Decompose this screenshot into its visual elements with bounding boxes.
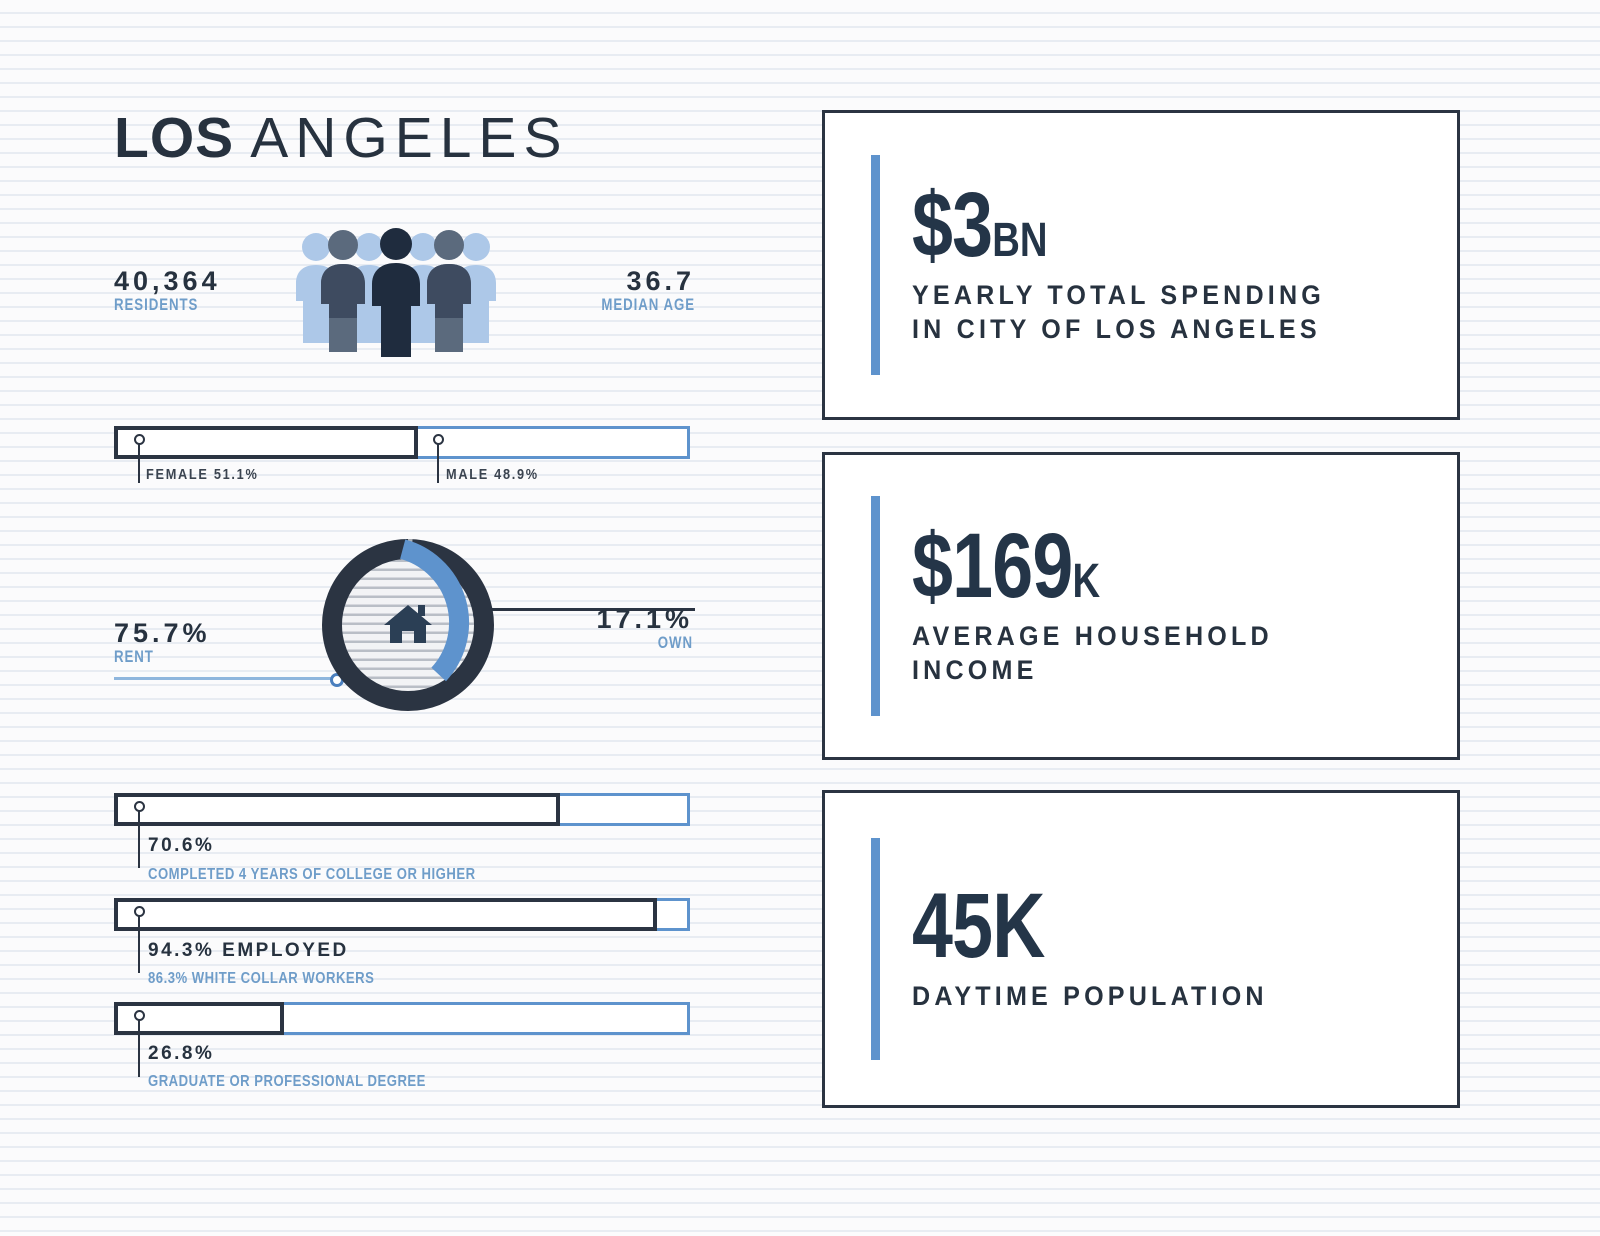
gender-split-bar	[114, 426, 690, 459]
kpi-number-unit-population: K	[992, 875, 1044, 977]
page-title-light: ANGELES	[250, 106, 568, 170]
residents-label: RESIDENTS	[114, 295, 198, 315]
education-bar-graduate	[114, 1002, 690, 1035]
employment-pin	[138, 915, 140, 973]
housing-tenure-donut	[318, 535, 498, 715]
kpi-accent-bar-spending	[871, 155, 880, 375]
own-stat: 17.1% OWN	[545, 605, 693, 653]
graduate-caption: GRADUATE OR PROFESSIONAL DEGREE	[148, 1073, 426, 1091]
kpi-caption-income-line2: INCOME	[912, 653, 1419, 688]
kpi-number-unit-spending: BN	[992, 214, 1047, 267]
rent-label: RENT	[114, 647, 189, 667]
kpi-accent-bar-population	[871, 838, 880, 1060]
residents-stat: 40,364 RESIDENTS	[114, 267, 222, 316]
graduate-pin	[138, 1019, 140, 1077]
rent-leader-line	[114, 677, 346, 680]
employment-bar-remainder	[657, 898, 690, 931]
employment-sub-caption: 86.3% WHITE COLLAR WORKERS	[148, 970, 374, 988]
college-bar-fill	[114, 793, 560, 826]
rent-value: 75.7%	[114, 619, 211, 647]
kpi-card-daytime-population: 45K DAYTIME POPULATION	[822, 790, 1460, 1108]
page-title: LOSANGELES	[114, 110, 568, 167]
kpi-number-main-spending: $3	[912, 174, 992, 276]
gender-female-pin	[138, 443, 140, 483]
kpi-body-income: $169K AVERAGE HOUSEHOLD INCOME	[912, 524, 1457, 688]
rent-stat: 75.7% RENT	[114, 619, 211, 667]
employment-bar-fill	[114, 898, 657, 931]
gender-male-pin	[437, 443, 439, 483]
infographic-page: LOSANGELES 40,364 RESIDENTS	[0, 0, 1600, 1236]
college-pin	[138, 810, 140, 868]
kpi-number-main-population: 45	[912, 875, 992, 977]
graduate-value: 26.8%	[148, 1043, 214, 1065]
kpi-number-unit-income: K	[1073, 555, 1101, 608]
kpi-caption-spending-line1: YEARLY TOTAL SPENDING	[912, 278, 1419, 313]
kpi-number-spending: $3BN	[912, 183, 1348, 268]
kpi-number-main-income: $169	[912, 515, 1073, 617]
own-label: OWN	[578, 633, 693, 653]
gender-male-label: MALE 48.9%	[446, 466, 539, 483]
employment-value: 94.3% EMPLOYED	[148, 940, 349, 962]
kpi-caption-income-line1: AVERAGE HOUSEHOLD	[912, 619, 1419, 654]
gender-bar-female-segment	[114, 426, 418, 459]
kpi-number-population: 45K	[912, 884, 1348, 969]
college-caption: COMPLETED 4 YEARS OF COLLEGE OR HIGHER	[148, 866, 476, 884]
median-age-value: 36.7	[575, 267, 695, 295]
gender-female-label: FEMALE 51.1%	[146, 466, 259, 483]
population-stats-row: 40,364 RESIDENTS	[0, 225, 790, 375]
education-bar-college	[114, 793, 690, 826]
own-value: 17.1%	[545, 605, 693, 633]
kpi-number-income: $169K	[912, 524, 1348, 609]
left-panel: LOSANGELES 40,364 RESIDENTS	[0, 0, 790, 1236]
kpi-caption-population-line1: DAYTIME POPULATION	[912, 979, 1419, 1014]
college-value: 70.6%	[148, 835, 214, 857]
kpi-card-yearly-spending: $3BN YEARLY TOTAL SPENDING IN CITY OF LO…	[822, 110, 1460, 420]
kpi-cards-panel: $3BN YEARLY TOTAL SPENDING IN CITY OF LO…	[822, 0, 1522, 1236]
housing-tenure-section: 75.7% RENT 17.1% OWN	[0, 535, 790, 745]
education-bar-employment	[114, 898, 690, 931]
gender-bar-male-segment	[418, 426, 690, 459]
residents-value: 40,364	[114, 267, 222, 295]
kpi-accent-bar-income	[871, 496, 880, 716]
people-group-icon	[296, 225, 496, 365]
college-bar-remainder	[560, 793, 690, 826]
graduate-bar-remainder	[284, 1002, 690, 1035]
kpi-body-spending: $3BN YEARLY TOTAL SPENDING IN CITY OF LO…	[912, 183, 1457, 347]
median-age-label: MEDIAN AGE	[601, 295, 695, 315]
kpi-caption-spending-line2: IN CITY OF LOS ANGELES	[912, 312, 1419, 347]
kpi-body-population: 45K DAYTIME POPULATION	[912, 884, 1457, 1013]
page-title-bold: LOS	[114, 106, 234, 170]
median-age-stat: 36.7 MEDIAN AGE	[575, 267, 695, 316]
kpi-card-household-income: $169K AVERAGE HOUSEHOLD INCOME	[822, 452, 1460, 760]
